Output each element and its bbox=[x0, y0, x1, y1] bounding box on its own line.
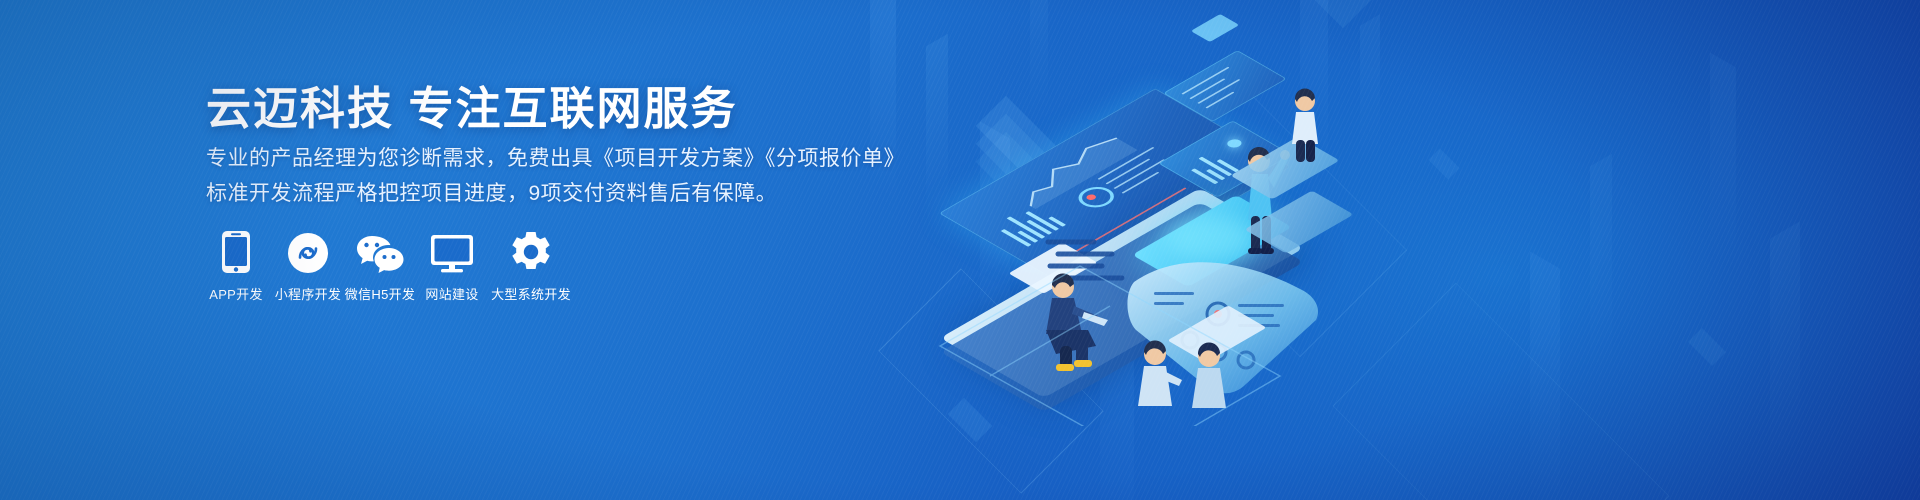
banner-subtitle-line-1: 专业的产品经理为您诊断需求，免费出具《项目开发方案》《分项报价单》 bbox=[206, 143, 905, 176]
service-item-app[interactable]: APP开发 bbox=[200, 228, 272, 303]
hero-banner: 云迈科技 专注互联网服务 专业的产品经理为您诊断需求，免费出具《项目开发方案》《… bbox=[0, 0, 1920, 500]
person-on-step bbox=[1282, 88, 1332, 164]
service-item-large-system[interactable]: 大型系统开发 bbox=[488, 228, 574, 303]
banner-title: 云迈科技 专注互联网服务 bbox=[206, 72, 738, 137]
base-grid-lines bbox=[900, 226, 1380, 426]
mobile-phone-icon bbox=[221, 228, 251, 274]
banner-content: 云迈科技 专注互联网服务 专业的产品经理为您诊断需求，免费出具《项目开发方案》《… bbox=[200, 0, 960, 500]
service-icon-row: APP开发 小程序开发 bbox=[200, 228, 574, 303]
banner-subtitle-line-2: 标准开发流程严格把控项目进度，9项交付资料售后有保障。 bbox=[206, 178, 777, 211]
floating-tag-icon bbox=[1191, 14, 1240, 42]
mini-program-icon bbox=[287, 228, 329, 274]
wechat-chat-icon bbox=[354, 228, 406, 274]
desktop-monitor-icon bbox=[430, 228, 474, 274]
service-label-miniprogram: 小程序开发 bbox=[275, 284, 342, 303]
service-label-large-system: 大型系统开发 bbox=[491, 284, 571, 303]
service-label-app: APP开发 bbox=[209, 284, 263, 303]
isometric-data-dashboard-illustration bbox=[930, 10, 1430, 390]
service-label-website: 网站建设 bbox=[425, 284, 478, 303]
service-item-miniprogram[interactable]: 小程序开发 bbox=[272, 228, 344, 303]
service-label-wechat-h5: 微信H5开发 bbox=[345, 284, 415, 303]
service-item-website[interactable]: 网站建设 bbox=[416, 228, 488, 303]
service-item-wechat-h5[interactable]: 微信H5开发 bbox=[344, 228, 416, 303]
gear-icon bbox=[509, 228, 553, 274]
